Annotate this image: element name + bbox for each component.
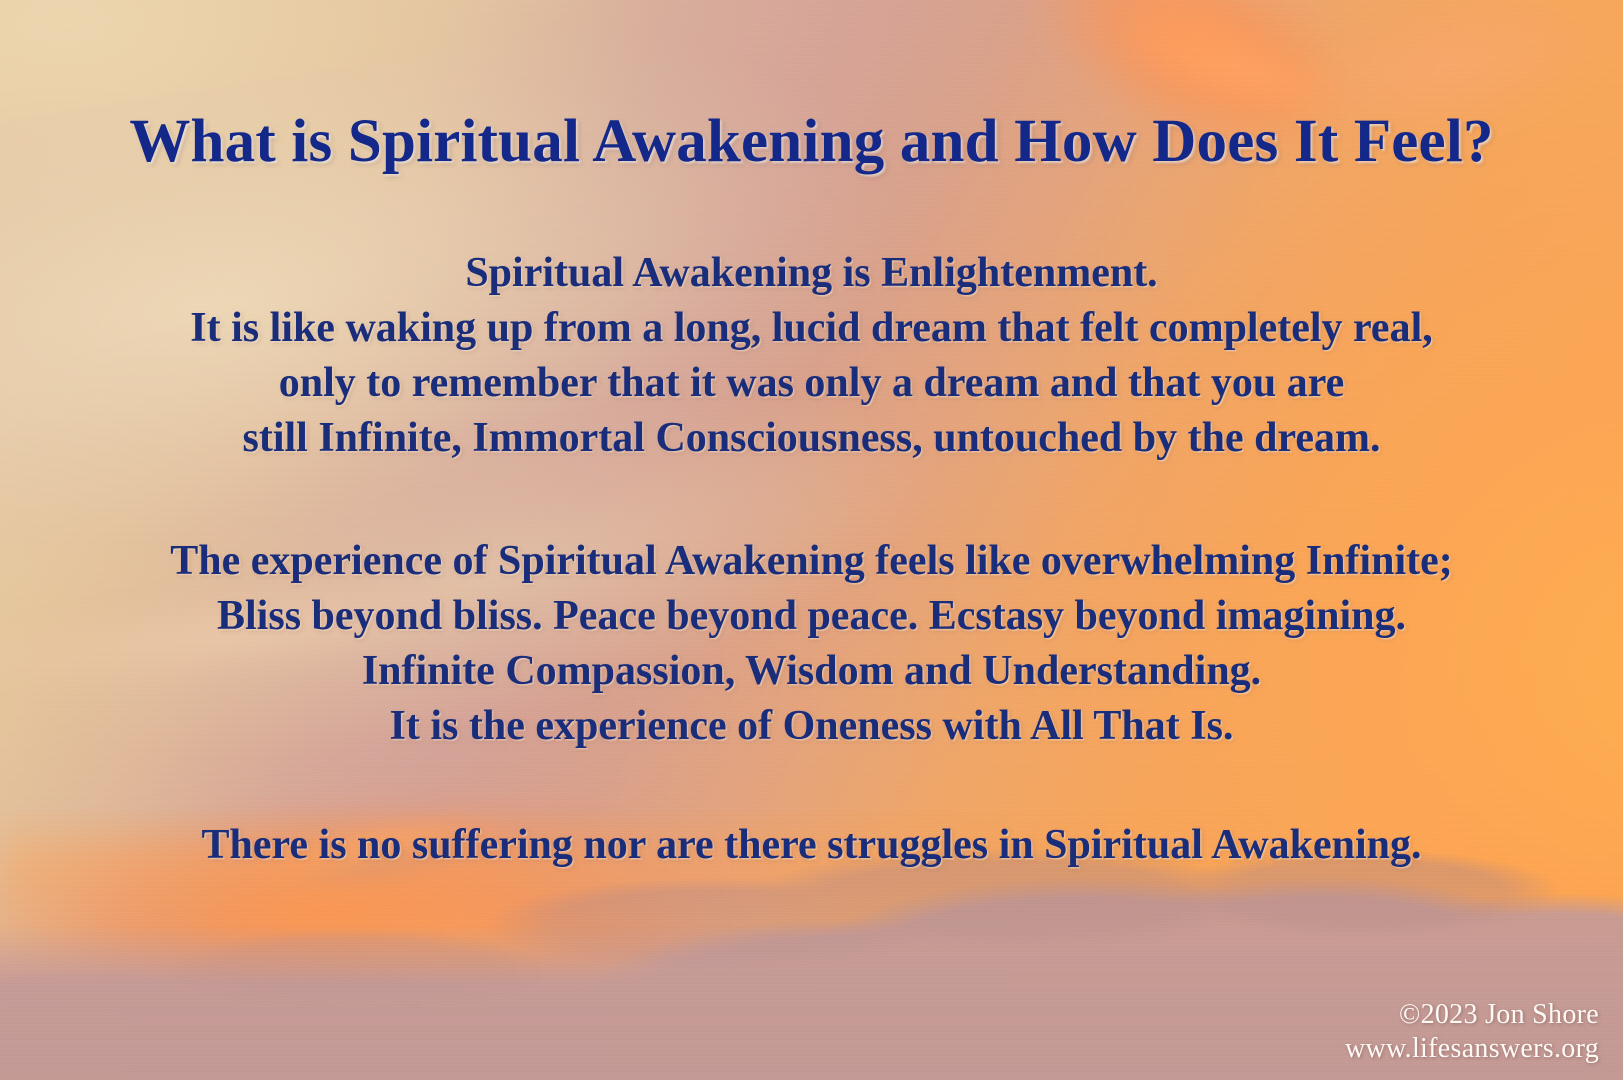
- paragraph-1-line-1: Spiritual Awakening is Enlightenment.: [0, 246, 1623, 301]
- text-content-stack: What is Spiritual Awakening and How Does…: [0, 0, 1623, 1080]
- paragraph-1-line-4: still Infinite, Immortal Consciousness, …: [0, 411, 1623, 466]
- paragraph-3-line-1: There is no suffering nor are there stru…: [0, 818, 1623, 873]
- paragraph-2-line-1: The experience of Spiritual Awakening fe…: [0, 534, 1623, 589]
- body-copy: Spiritual Awakening is Enlightenment. It…: [0, 246, 1623, 873]
- paragraph-2: The experience of Spiritual Awakening fe…: [0, 534, 1623, 754]
- website-url[interactable]: www.lifesanswers.org: [1345, 1032, 1599, 1066]
- copyright-notice: ©2023 Jon Shore: [1345, 998, 1599, 1032]
- paragraph-1: Spiritual Awakening is Enlightenment. It…: [0, 246, 1623, 466]
- paragraph-2-line-4: It is the experience of Oneness with All…: [0, 699, 1623, 754]
- credit-watermark: ©2023 Jon Shore www.lifesanswers.org: [1345, 998, 1599, 1066]
- paragraph-1-line-2: It is like waking up from a long, lucid …: [0, 301, 1623, 356]
- poster-canvas: What is Spiritual Awakening and How Does…: [0, 0, 1623, 1080]
- paragraph-1-line-3: only to remember that it was only a drea…: [0, 356, 1623, 411]
- paragraph-3: There is no suffering nor are there stru…: [0, 818, 1623, 873]
- page-title: What is Spiritual Awakening and How Does…: [0, 107, 1623, 177]
- paragraph-2-line-2: Bliss beyond bliss. Peace beyond peace. …: [0, 589, 1623, 644]
- paragraph-2-line-3: Infinite Compassion, Wisdom and Understa…: [0, 644, 1623, 699]
